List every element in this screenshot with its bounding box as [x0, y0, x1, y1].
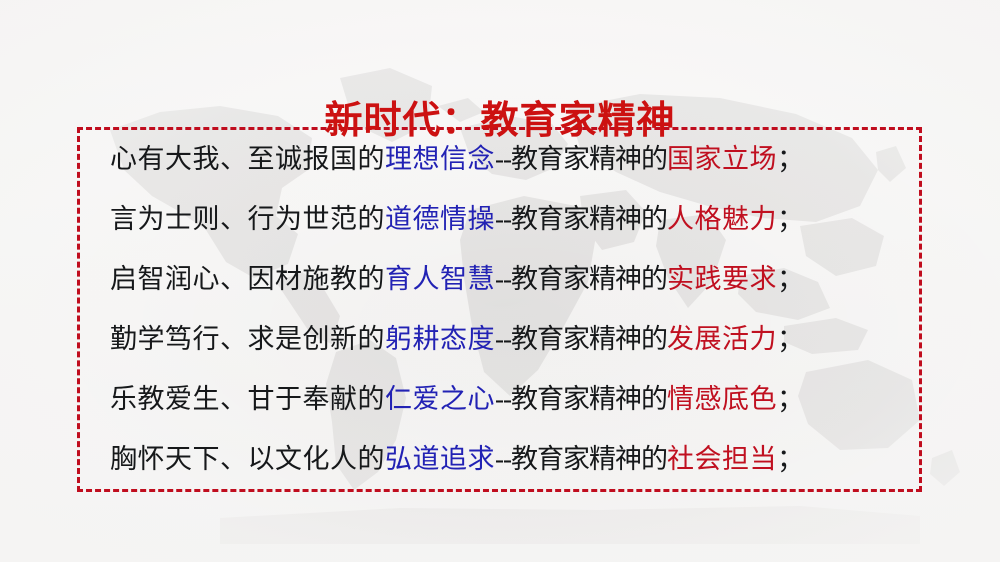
line-suffix: ；	[777, 264, 805, 294]
list-item: 乐教爱生、甘于奉献的仁爱之心--教育家精神的情感底色；	[110, 386, 911, 413]
line-middle: --教育家精神的	[495, 264, 667, 294]
line-result: 人格魅力	[667, 204, 777, 234]
line-suffix: ；	[777, 324, 805, 354]
line-keyword: 弘道追求	[385, 444, 495, 474]
line-middle: --教育家精神的	[495, 384, 667, 414]
line-keyword: 躬耕态度	[385, 324, 495, 354]
line-prefix: 心有大我、至诚报国的	[110, 144, 385, 174]
line-prefix: 勤学笃行、求是创新的	[110, 324, 385, 354]
line-result: 社会担当	[667, 444, 777, 474]
list-item: 心有大我、至诚报国的理想信念--教育家精神的国家立场；	[110, 146, 911, 173]
line-middle: --教育家精神的	[495, 324, 667, 354]
line-result: 情感底色	[667, 384, 777, 414]
line-keyword: 育人智慧	[385, 264, 495, 294]
list-item: 启智润心、因材施教的育人智慧--教育家精神的实践要求；	[110, 266, 911, 293]
line-middle: --教育家精神的	[495, 444, 667, 474]
line-result: 发展活力	[667, 324, 777, 354]
content-box: 心有大我、至诚报国的理想信念--教育家精神的国家立场； 言为士则、行为世范的道德…	[77, 127, 922, 492]
line-suffix: ；	[777, 444, 805, 474]
line-keyword: 道德情操	[385, 204, 495, 234]
slide-canvas: 新时代：教育家精神 心有大我、至诚报国的理想信念--教育家精神的国家立场； 言为…	[0, 0, 1000, 562]
line-prefix: 胸怀天下、以文化人的	[110, 444, 385, 474]
line-result: 国家立场	[667, 144, 777, 174]
line-keyword: 理想信念	[385, 144, 495, 174]
list-item: 胸怀天下、以文化人的弘道追求--教育家精神的社会担当；	[110, 446, 911, 473]
line-prefix: 乐教爱生、甘于奉献的	[110, 384, 385, 414]
line-prefix: 言为士则、行为世范的	[110, 204, 385, 234]
line-suffix: ；	[777, 204, 805, 234]
line-prefix: 启智润心、因材施教的	[110, 264, 385, 294]
list-item: 言为士则、行为世范的道德情操--教育家精神的人格魅力；	[110, 206, 911, 233]
line-suffix: ；	[777, 144, 805, 174]
line-middle: --教育家精神的	[495, 144, 667, 174]
line-keyword: 仁爱之心	[385, 384, 495, 414]
line-result: 实践要求	[667, 264, 777, 294]
list-item: 勤学笃行、求是创新的躬耕态度--教育家精神的发展活力；	[110, 326, 911, 353]
page-title: 新时代：教育家精神	[0, 89, 1000, 144]
line-middle: --教育家精神的	[495, 204, 667, 234]
line-suffix: ；	[777, 384, 805, 414]
principle-list: 心有大我、至诚报国的理想信念--教育家精神的国家立场； 言为士则、行为世范的道德…	[110, 130, 911, 489]
